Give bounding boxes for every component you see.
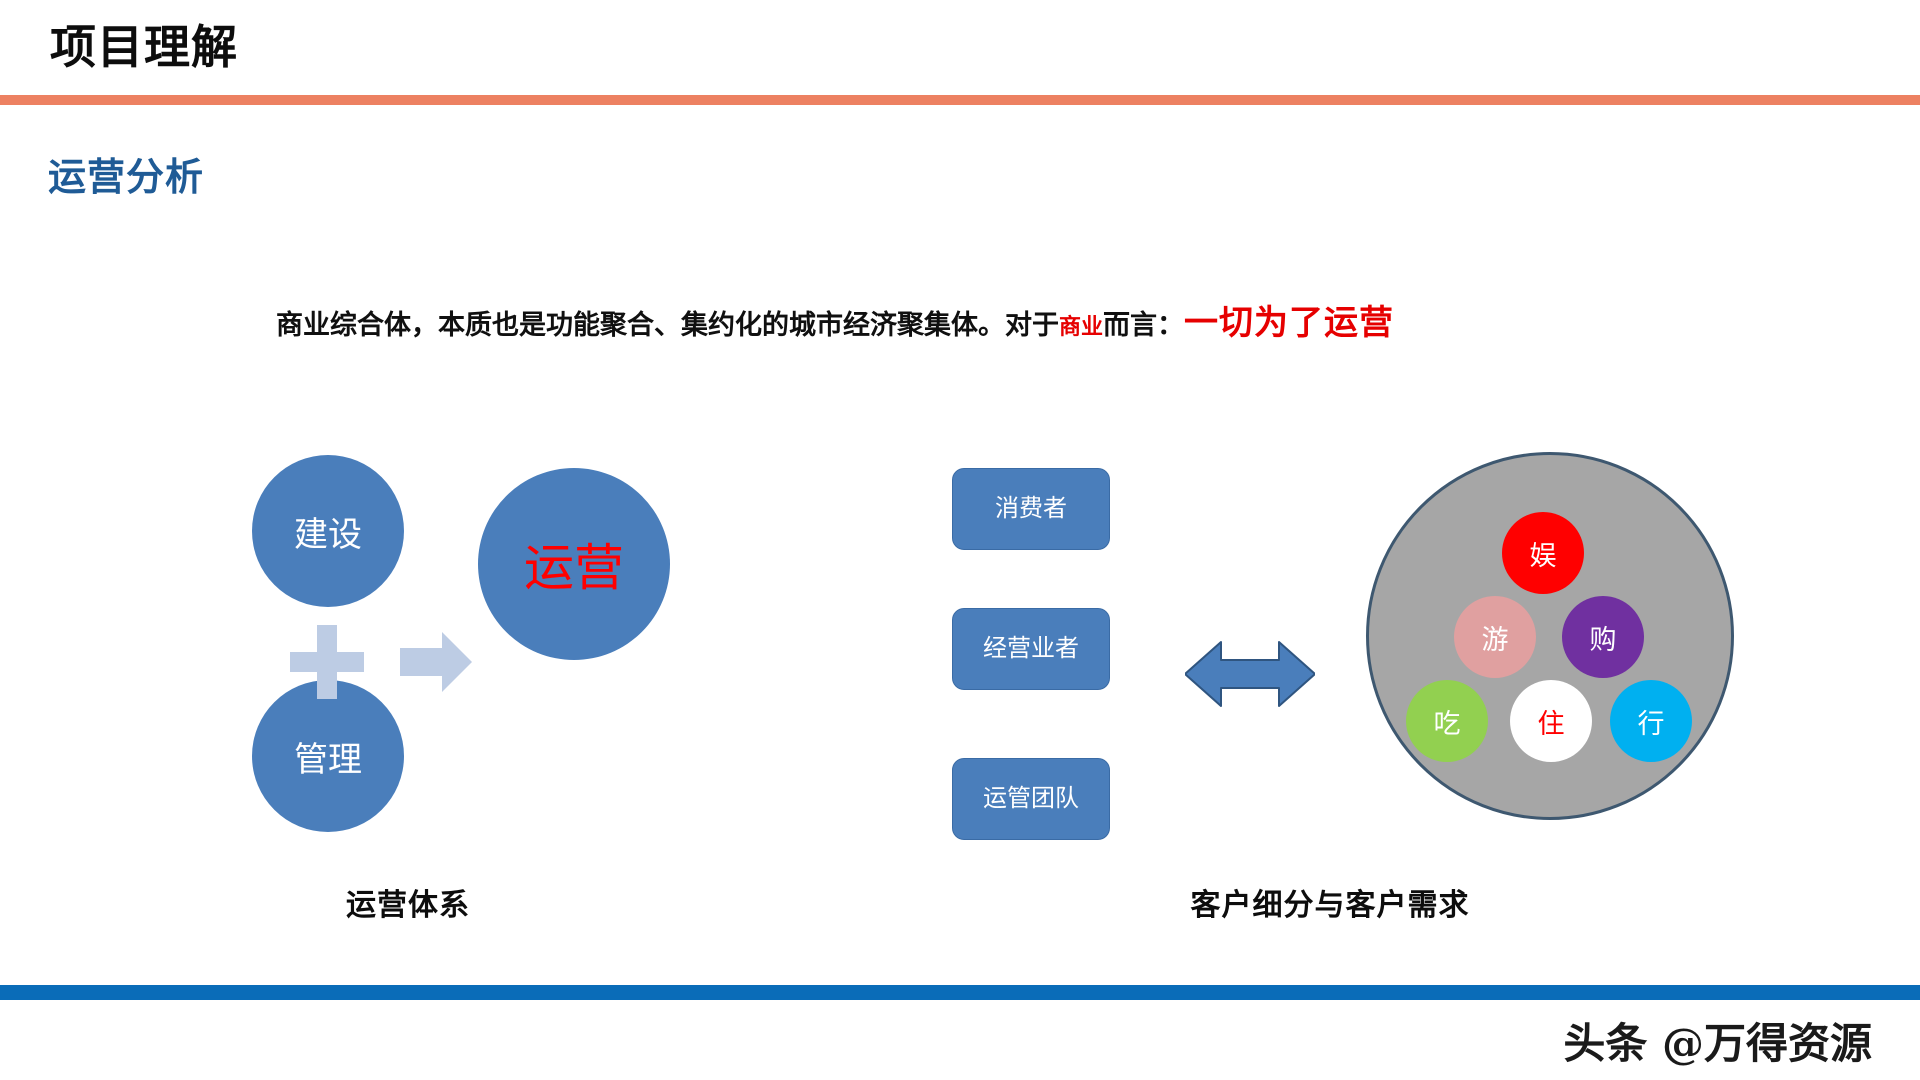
bubble-transport-label: 行 — [1638, 702, 1665, 741]
caption-right-diagram: 客户细分与客户需求 — [1191, 880, 1470, 924]
segment-box-consumer[interactable]: 消费者 — [952, 468, 1110, 550]
watermark: 头条 @万得资源 — [1563, 1010, 1872, 1071]
customer-needs-cluster: 娱 游 购 吃 住 行 — [1366, 452, 1734, 820]
bubble-shopping[interactable]: 购 — [1562, 596, 1644, 678]
double-arrow-icon — [1185, 638, 1315, 710]
segment-box-consumer-label: 消费者 — [995, 494, 1067, 524]
cluster-outer-ring — [1366, 452, 1734, 820]
bubble-shopping-label: 购 — [1590, 618, 1617, 657]
bubble-entertainment-label: 娱 — [1530, 534, 1557, 573]
bubble-entertainment[interactable]: 娱 — [1502, 512, 1584, 594]
plus-icon — [290, 625, 364, 699]
title-divider — [0, 95, 1920, 105]
lead-statement: 商业综合体，本质也是功能聚合、集约化的城市经济聚集体。对于商业而言：一切为了运营 — [276, 305, 1394, 342]
node-guanli-label: 管理 — [294, 732, 362, 781]
bubble-lodging-label: 住 — [1538, 702, 1565, 741]
node-yunying[interactable]: 运营 — [478, 468, 670, 660]
bubble-lodging[interactable]: 住 — [1510, 680, 1592, 762]
right-arrow-icon — [400, 632, 472, 692]
footer-bar — [0, 985, 1920, 1000]
node-jianshe[interactable]: 建设 — [252, 455, 404, 607]
lead-statement-part2: 而言： — [1103, 310, 1184, 340]
segment-box-team-label: 运管团队 — [983, 784, 1079, 814]
node-jianshe-label: 建设 — [294, 507, 362, 556]
lead-statement-emph-big: 一切为了运营 — [1184, 304, 1394, 342]
lead-statement-part1: 商业综合体，本质也是功能聚合、集约化的城市经济聚集体。对于 — [276, 310, 1059, 340]
segment-box-operator[interactable]: 经营业者 — [952, 608, 1110, 690]
node-guanli[interactable]: 管理 — [252, 680, 404, 832]
segment-box-operator-label: 经营业者 — [983, 634, 1079, 664]
bubble-dining[interactable]: 吃 — [1406, 680, 1488, 762]
bubble-travel[interactable]: 游 — [1454, 596, 1536, 678]
bubble-travel-label: 游 — [1482, 618, 1509, 657]
segment-box-team[interactable]: 运管团队 — [952, 758, 1110, 840]
bubble-dining-label: 吃 — [1434, 702, 1461, 741]
node-yunying-label: 运营 — [524, 528, 624, 600]
section-heading: 运营分析 — [48, 146, 204, 201]
page-title: 项目理解 — [50, 24, 238, 70]
lead-statement-emph-small: 商业 — [1059, 314, 1103, 339]
bubble-transport[interactable]: 行 — [1610, 680, 1692, 762]
caption-left-diagram: 运营体系 — [346, 880, 470, 924]
